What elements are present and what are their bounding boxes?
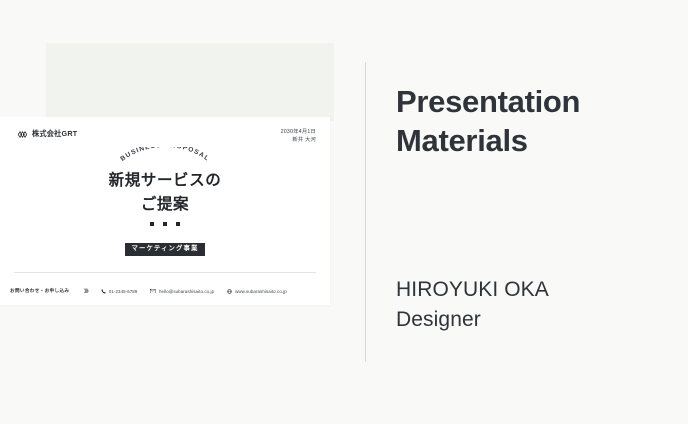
page-title: Presentation Materials bbox=[396, 82, 676, 160]
slide-author: 新井 大河 bbox=[281, 136, 316, 144]
slide-date: 2030年4月1日 bbox=[281, 128, 316, 136]
footer-contact-website[interactable]: www.subarashisaito.co.jp bbox=[227, 289, 287, 294]
slide-card[interactable]: 株式会社GRT 2030年4月1日 新井 大河 BUSINESS PROPOSA… bbox=[0, 117, 330, 305]
globe-icon bbox=[227, 289, 232, 294]
author-name: HIROYUKI OKA bbox=[396, 275, 676, 305]
footer-cta-label: お問い合わせ・お申し込み bbox=[10, 288, 69, 294]
footer-website-text: www.subarashisaito.co.jp bbox=[235, 289, 287, 294]
footer-divider-rule bbox=[14, 272, 316, 273]
info-column: Presentation Materials HIROYUKI OKA Desi… bbox=[396, 0, 676, 424]
footer-phone-text: 01-2345-6789 bbox=[109, 289, 138, 294]
page-title-line-2: Materials bbox=[396, 121, 676, 160]
category-badge: マーケティング事業 bbox=[125, 243, 206, 256]
mail-icon bbox=[150, 289, 156, 293]
page-title-line-1: Presentation bbox=[396, 82, 676, 121]
vertical-divider bbox=[365, 62, 366, 362]
phone-icon bbox=[101, 289, 106, 294]
eyebrow-text: BUSINESS PROPOSAL bbox=[119, 147, 210, 163]
author-block: HIROYUKI OKA Designer bbox=[396, 275, 676, 335]
slide-header: 株式会社GRT 2030年4月1日 新井 大河 bbox=[0, 117, 330, 151]
slide-headline: 新規サービスの ご提案 bbox=[0, 169, 330, 216]
backdrop-panel bbox=[46, 43, 334, 121]
dot-divider bbox=[0, 222, 330, 226]
divider-dot bbox=[163, 222, 167, 226]
slide-badge-wrap: マーケティング事業 bbox=[0, 237, 330, 256]
headline-line-2: ご提案 bbox=[0, 193, 330, 217]
divider-dot bbox=[176, 222, 180, 226]
footer-contact-phone[interactable]: 01-2345-6789 bbox=[101, 289, 138, 294]
chevron-right-icon: ››› bbox=[83, 286, 87, 297]
company-name: 株式会社GRT bbox=[32, 129, 77, 139]
slide-footer: お問い合わせ・お申し込み ››› 01-2345-6789 bbox=[0, 281, 330, 301]
author-role: Designer bbox=[396, 305, 676, 335]
footer-contact-email[interactable]: hello@subarashisaito.co.jp bbox=[150, 289, 214, 294]
grt-diamond-logo-icon bbox=[16, 130, 27, 139]
slide-meta: 2030年4月1日 新井 大河 bbox=[281, 128, 316, 144]
slide-preview-area: 株式会社GRT 2030年4月1日 新井 大河 BUSINESS PROPOSA… bbox=[0, 0, 366, 424]
slide-logo: 株式会社GRT bbox=[16, 129, 77, 139]
divider-dot bbox=[150, 222, 154, 226]
headline-line-1: 新規サービスの bbox=[0, 169, 330, 193]
footer-email-text: hello@subarashisaito.co.jp bbox=[159, 289, 214, 294]
